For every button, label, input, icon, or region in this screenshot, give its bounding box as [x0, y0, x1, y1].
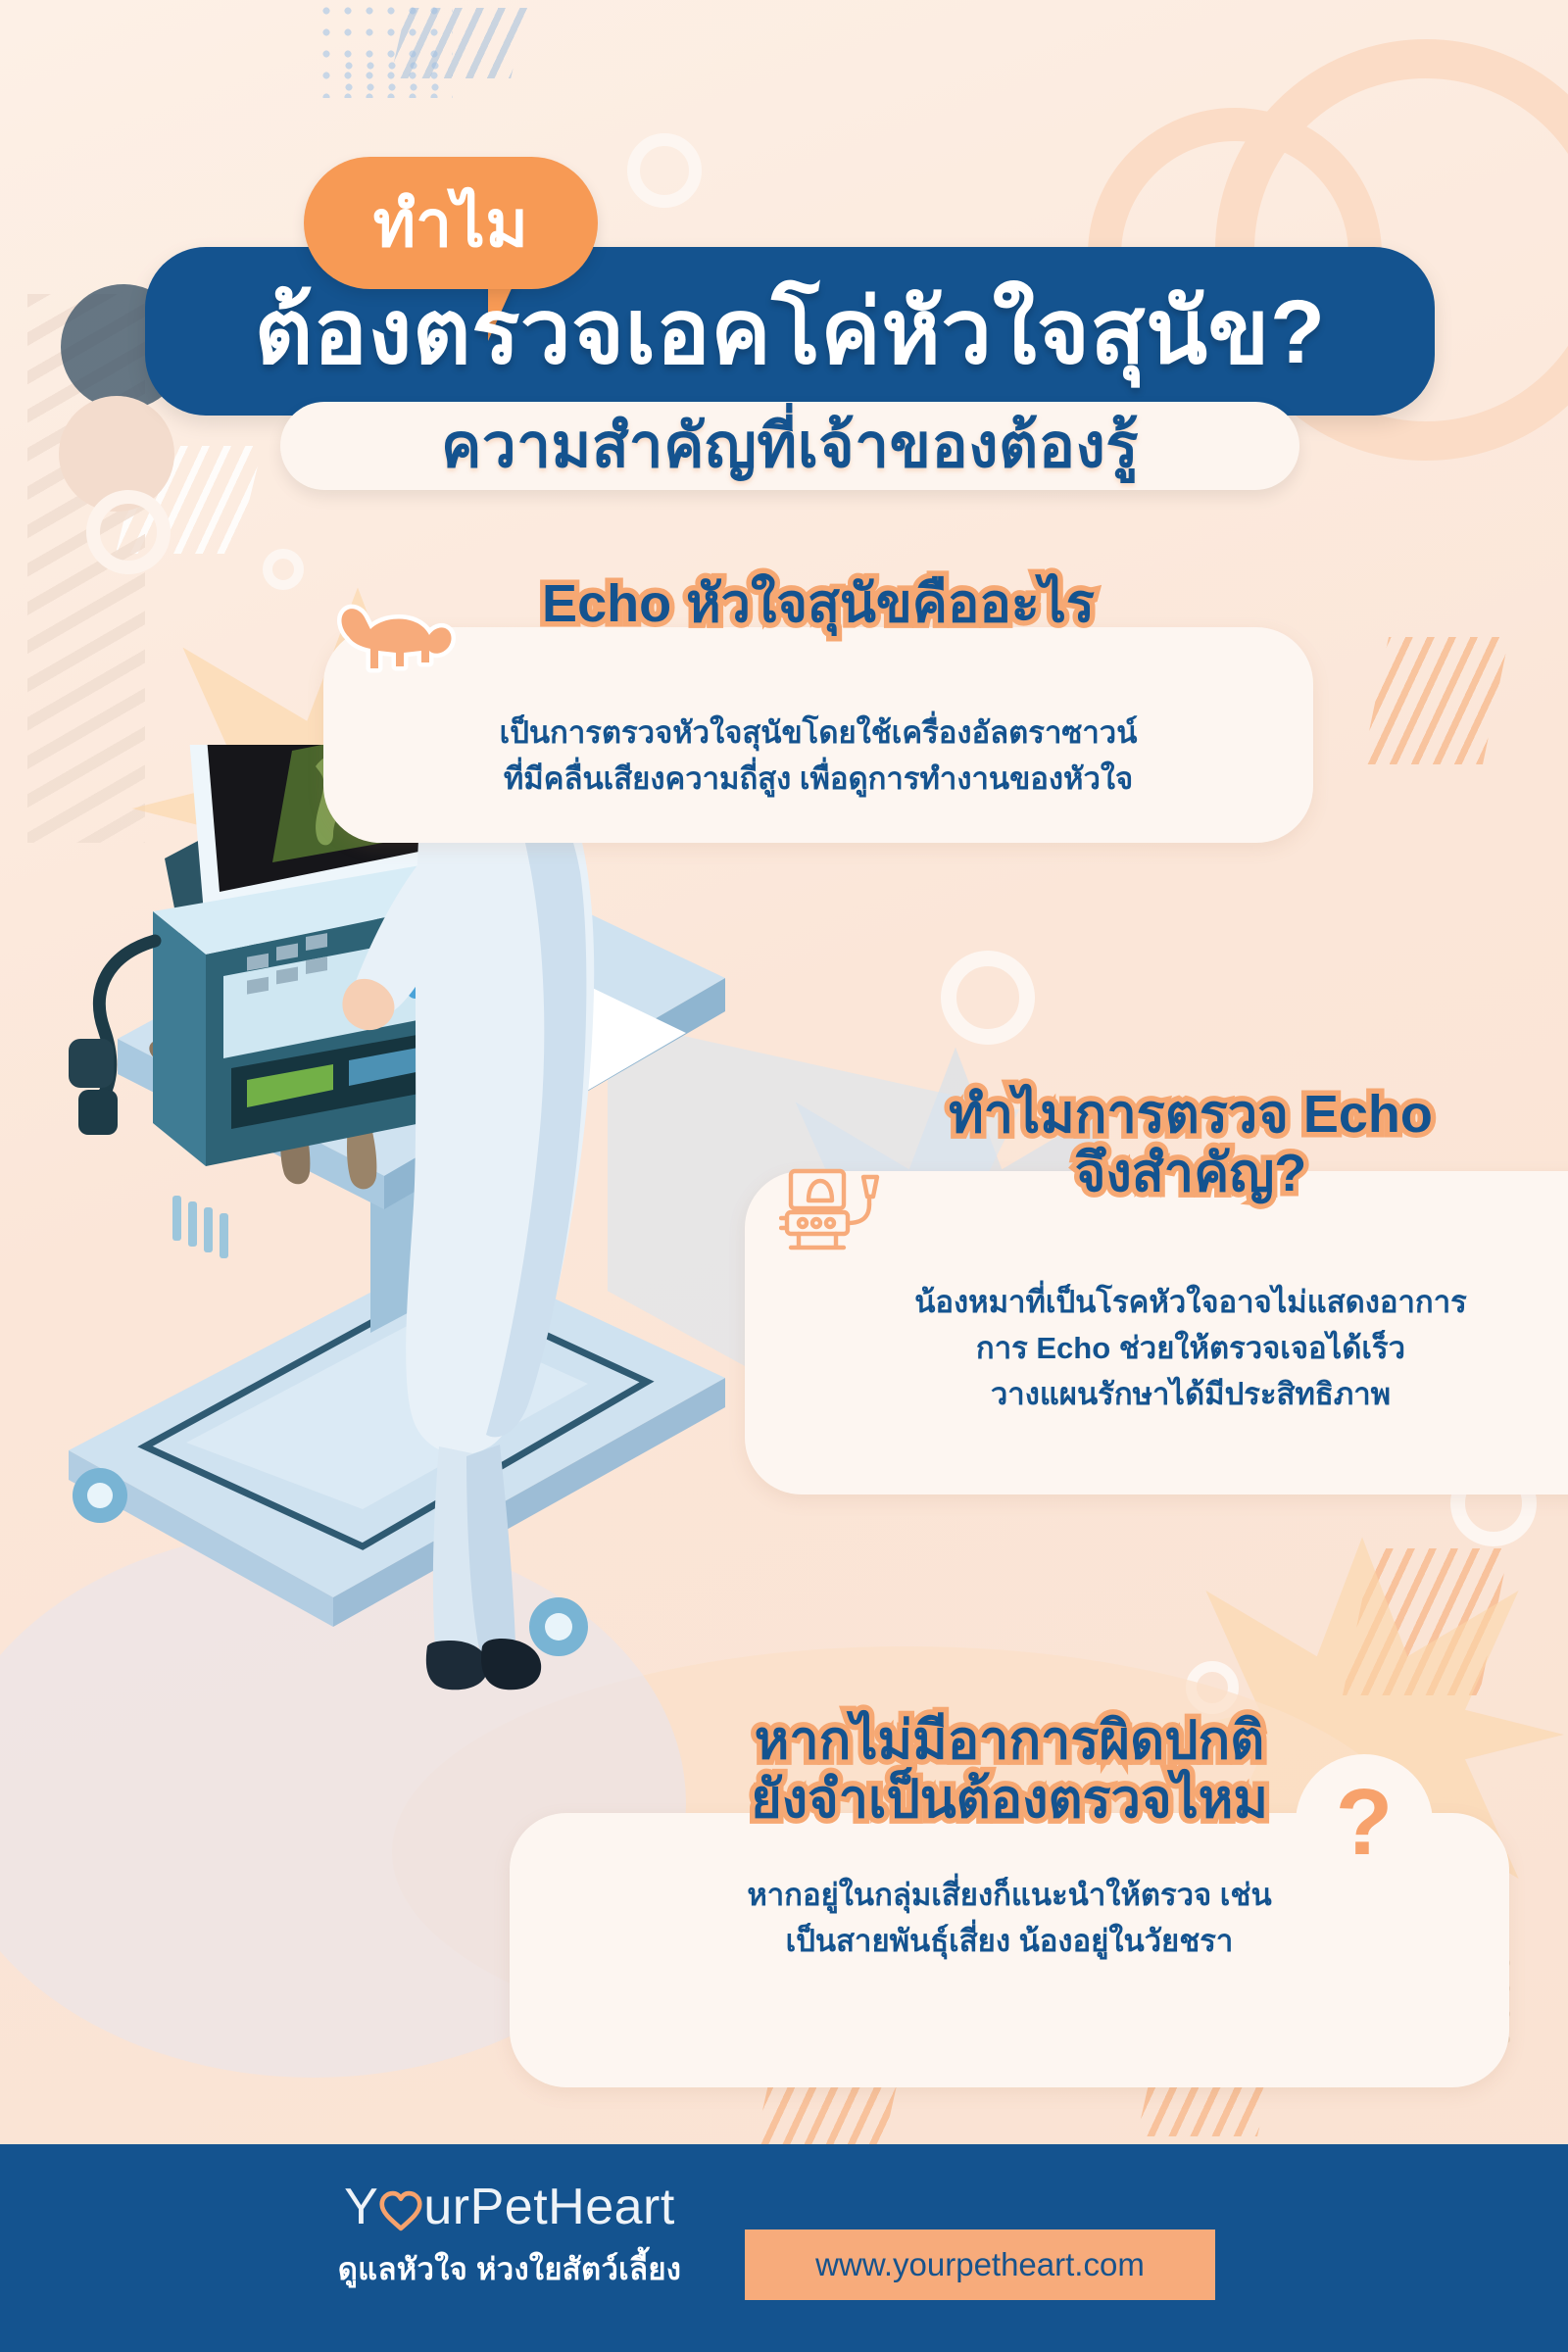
card2-heading-line1: ทำไมการตรวจ Echo: [745, 1085, 1568, 1144]
card2-body-line2: การ Echo ช่วยให้ตรวจเจอได้เร็ว: [745, 1325, 1568, 1371]
card2-body: น้องหมาที่เป็นโรคหัวใจอาจไม่แสดงอาการ กา…: [745, 1279, 1568, 1417]
card1-heading: Echo หัวใจสุนัขคืออะไร: [323, 574, 1313, 633]
page-subtitle: ความสำคัญที่เจ้าของต้องรู้: [441, 398, 1139, 494]
brand-logo-prefix: Y: [344, 2181, 378, 2232]
card1-body-line2: ที่มีคลื่นเสียงความถี่สูง เพื่อดูการทำงา…: [323, 756, 1313, 802]
question-mark-icon: ?: [1296, 1754, 1433, 1891]
header: ทำไม ต้องตรวจเอคโค่หัวใจสุนัข? ความสำคัญ…: [0, 0, 1568, 510]
ultrasound-machine-icon: [779, 1161, 897, 1259]
card1-body: เป็นการตรวจหัวใจสุนัขโดยใช้เครื่องอัลตรา…: [323, 710, 1313, 802]
subtitle-pill: ความสำคัญที่เจ้าของต้องรู้: [280, 402, 1299, 490]
website-url-button[interactable]: www.yourpetheart.com: [745, 2229, 1215, 2300]
card1-body-line1: เป็นการตรวจหัวใจสุนัขโดยใช้เครื่องอัลตรา…: [323, 710, 1313, 756]
heart-icon: [379, 2189, 422, 2232]
dog-icon: [331, 586, 459, 694]
brand-tagline: ดูแลหัวใจ ห่วงใยสัตว์เลี้ยง: [323, 2244, 696, 2293]
card3-body-line2: เป็นสายพันธุ์เสี่ยง น้องอยู่ในวัยชรา: [510, 1918, 1509, 1964]
bg-ring-right-mid: [941, 951, 1035, 1045]
card2-body-line1: น้องหมาที่เป็นโรคหัวใจอาจไม่แสดงอาการ: [745, 1279, 1568, 1325]
brand-logo: Y urPetHeart ดูแลหัวใจ ห่วงใยสัตว์เลี้ยง: [323, 2181, 696, 2293]
card-echo-definition: Echo หัวใจสุนัขคืออะไร เป็นการตรวจหัวใจส…: [323, 627, 1313, 843]
card2-body-line3: วางแผนรักษาได้มีประสิทธิภาพ: [745, 1371, 1568, 1417]
page-title: ต้องตรวจเอคโค่หัวใจสุนัข?: [145, 257, 1435, 404]
brand-logo-suffix: urPetHeart: [423, 2181, 674, 2232]
brand-logo-text: Y urPetHeart: [323, 2181, 696, 2232]
why-badge-label: ทำไม: [373, 191, 529, 256]
